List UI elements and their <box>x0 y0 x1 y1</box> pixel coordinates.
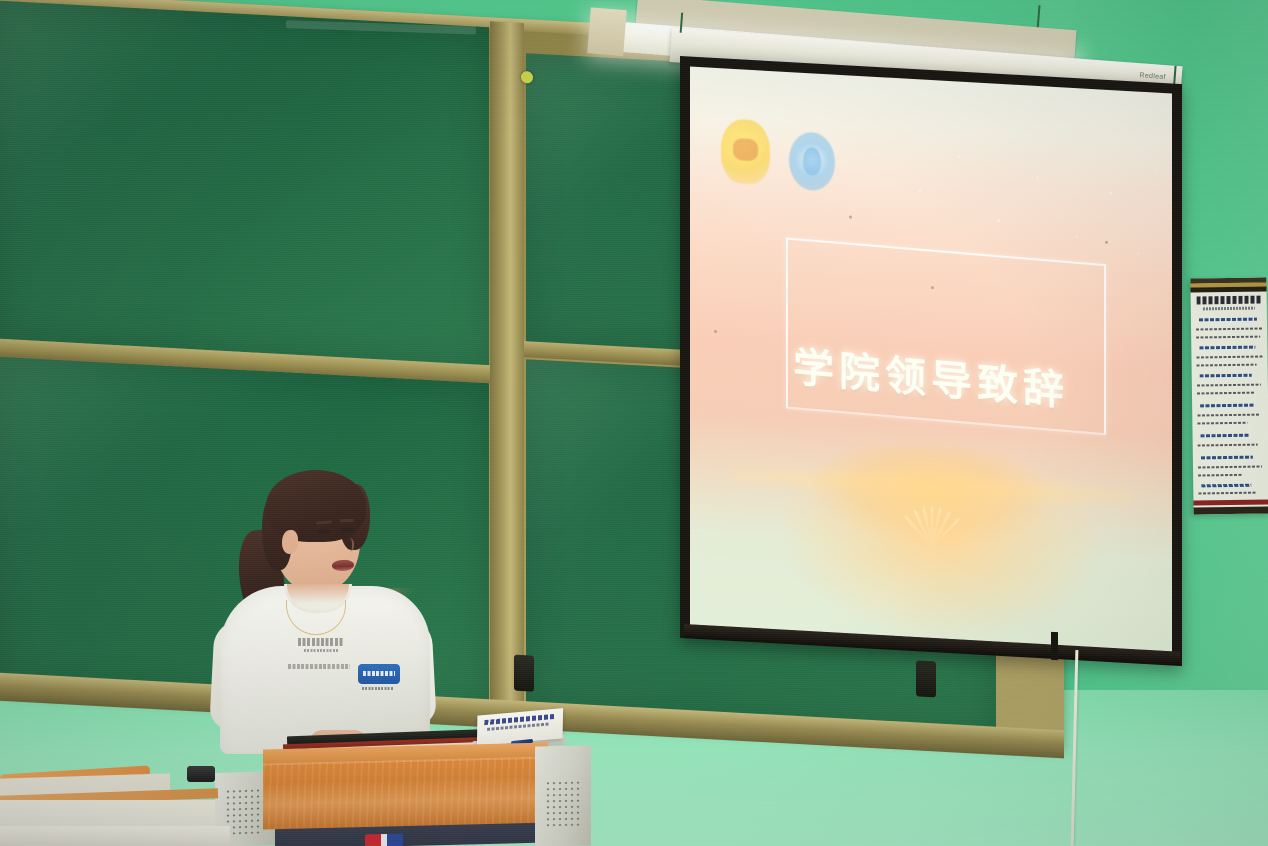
poster-heading-line <box>1199 346 1255 350</box>
shirt-badge <box>358 664 400 684</box>
poster-text-line <box>1196 328 1262 331</box>
slide-light-burst <box>729 437 1134 605</box>
classroom-photo-scene: Redleaf 学院领导致辞 <box>0 0 1268 846</box>
side-desk-device <box>187 766 215 782</box>
poster-bottom-dark-bar <box>1194 506 1268 514</box>
blackboard-vertical-divider <box>490 21 524 717</box>
poster-text-line <box>1197 384 1261 387</box>
shirt-brand-text <box>298 638 344 646</box>
wall-regulation-notice <box>1190 277 1268 514</box>
poster-text-line <box>1197 414 1259 417</box>
poster-title-text <box>1197 296 1261 305</box>
poster-dark-bar <box>1190 286 1266 292</box>
poster-text-line <box>1196 336 1260 339</box>
poster-text-line <box>1197 364 1257 367</box>
shirt-secondary-text <box>288 664 350 669</box>
poster-text-line <box>1197 392 1255 395</box>
poster-heading-line <box>1199 318 1257 322</box>
lectern-flag-decal <box>365 834 403 846</box>
institution-round-emblem-icon <box>789 131 835 192</box>
poster-heading-line <box>1201 484 1251 488</box>
screen-black-border: 学院领导致辞 <box>680 56 1182 666</box>
lectern-left-speaker-grille <box>225 787 263 834</box>
blackboard-slide-knob[interactable] <box>514 655 534 692</box>
blackboard-panel-top-left <box>0 0 489 365</box>
female-presenter <box>212 468 442 768</box>
poster-text-line <box>1197 422 1247 425</box>
screen-brand-label: Redleaf <box>1139 72 1166 81</box>
screen-pull-tab[interactable] <box>1051 632 1058 660</box>
poster-text-line <box>1198 466 1262 469</box>
projected-slide: 学院领导致辞 <box>690 67 1172 652</box>
screen-speck <box>1105 240 1108 243</box>
blackboard-slide-knob[interactable] <box>916 660 936 697</box>
lectern-right-panel <box>535 746 591 846</box>
poster-heading-line <box>1200 374 1252 378</box>
poster-text-line <box>1198 492 1256 495</box>
shirt-brand-subtext <box>304 649 338 652</box>
lectern-front-face <box>263 757 548 830</box>
poster-subtitle-text <box>1203 307 1255 311</box>
blackboard-magnet-dot <box>521 71 533 84</box>
wood-grain <box>263 757 548 830</box>
poster-text-line <box>1198 474 1242 477</box>
lectern-right-speaker-grille <box>545 780 583 827</box>
poster-heading-line <box>1200 404 1254 408</box>
poster-text-line <box>1198 444 1258 447</box>
poster-text-line <box>1196 356 1262 359</box>
shirt-badge-subtext <box>362 687 394 690</box>
desk-lower-slab <box>0 826 230 846</box>
wooden-lectern <box>215 724 590 846</box>
nose <box>343 538 354 552</box>
poster-heading-line <box>1201 434 1249 438</box>
shirt-badge-text <box>363 671 395 676</box>
projection-screen: Redleaf 学院领导致辞 <box>676 28 1186 628</box>
light-end-cap <box>587 7 627 56</box>
eye-left <box>317 529 331 534</box>
poster-heading-line <box>1201 456 1253 460</box>
poster-bottom-red-bar <box>1193 499 1268 505</box>
eye-right <box>341 527 354 532</box>
ear <box>282 530 298 554</box>
communist-youth-league-emblem-icon <box>721 119 769 186</box>
screen-speck <box>849 215 852 218</box>
panel-sheen <box>0 0 489 365</box>
